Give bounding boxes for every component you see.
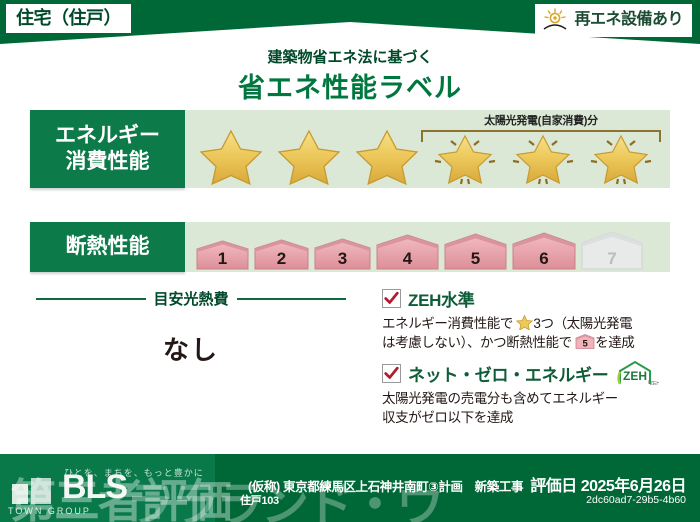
insulation-grade-4: 4 bbox=[375, 234, 440, 270]
claim-description: エネルギー消費性能で 3つ（太陽光発電 は考慮しない）、かつ断熱性能で 5 を達… bbox=[382, 314, 674, 352]
renewable-badge-label: 再エネ設備あり bbox=[574, 12, 683, 28]
insulation-grade-2: 2 bbox=[253, 239, 310, 270]
eval-date-label: 評価日 bbox=[530, 478, 577, 495]
grade-number: 1 bbox=[195, 250, 250, 267]
renewable-equipment-badge: 再エネ設備あり bbox=[535, 4, 692, 37]
insulation-grade-1: 1 bbox=[195, 240, 250, 270]
house-badge-icon-inline: 5 bbox=[575, 334, 595, 349]
zeh-logo-icon: ZEH 「ZEH」 bbox=[615, 360, 659, 386]
sun-solar-icon bbox=[542, 8, 568, 32]
claim-desc-mid: 3つ（太陽光発電 bbox=[533, 316, 632, 331]
pv-bracket-caption: 太陽光発電(自家消費)分 bbox=[421, 112, 661, 128]
footer-unit-number: 住戸103 bbox=[240, 492, 279, 508]
claim-header: ネット・ゼロ・エネルギー ZEH 「ZEH」 bbox=[382, 360, 674, 386]
check-icon bbox=[383, 290, 400, 307]
footer-evaluation-date: 評価日 2025年6月26日 bbox=[530, 472, 686, 496]
energy-key-line2: 消費性能 bbox=[55, 149, 160, 175]
insulation-grade-scale: 1 2 3 bbox=[195, 231, 644, 270]
brand-name: BLS bbox=[62, 470, 127, 504]
page-title: 省エネ性能ラベル bbox=[0, 66, 700, 105]
star-icon-pv bbox=[583, 127, 659, 185]
energy-performance-value: 太陽光発電(自家消費)分 bbox=[185, 110, 670, 188]
star-icon-filled bbox=[349, 127, 425, 185]
claim-desc-end: を達成 bbox=[595, 335, 634, 350]
insulation-performance-value: 1 2 3 bbox=[185, 222, 670, 272]
insulation-grade-3: 3 bbox=[313, 238, 372, 270]
claim-title: ネット・ゼロ・エネルギー bbox=[408, 361, 608, 386]
divider-right bbox=[237, 298, 347, 300]
brand-logo-icon bbox=[10, 476, 54, 506]
claim-description: 太陽光発電の売電分も含めてエネルギー 収支がゼロ以下を達成 bbox=[382, 389, 674, 427]
title-subtitle: 建築物省エネ法に基づく bbox=[0, 46, 700, 67]
brand-subtitle: TOWN GROUP bbox=[8, 506, 91, 516]
star-icon-pv bbox=[427, 127, 503, 185]
checkbox-checked[interactable] bbox=[382, 289, 401, 308]
claim-desc-line1: 太陽光発電の売電分も含めてエネルギー bbox=[382, 391, 618, 406]
grade-number: 2 bbox=[253, 250, 310, 267]
footer-bar: (仮称) 東京都練馬区上石神井南町③計画 新築工事 住戸103 評価日 2025… bbox=[0, 454, 700, 522]
grade-number: 3 bbox=[313, 250, 372, 267]
insulation-grade-5: 5 bbox=[443, 233, 508, 270]
utility-cost-label: 目安光熱費 bbox=[154, 288, 229, 309]
divider-left bbox=[36, 298, 146, 300]
footer-project-name: 東京都練馬区上石神井南町③計画 新築工事 bbox=[283, 476, 523, 495]
claim-zeh-level: ZEH水準 エネルギー消費性能で 3つ（太陽光発電 は考慮しない）、かつ断熱性能… bbox=[382, 286, 674, 352]
footer-document-id: 2dc60ad7-29b5-4b60 bbox=[586, 494, 686, 506]
utility-cost-value: なし bbox=[36, 330, 346, 367]
checkbox-checked[interactable] bbox=[382, 364, 401, 383]
check-icon bbox=[383, 365, 400, 382]
claim-desc-pre: エネルギー消費性能で bbox=[382, 316, 513, 331]
building-type-badge: 住宅（住戸） bbox=[6, 4, 131, 33]
star-rating bbox=[193, 127, 659, 185]
insulation-performance-row: 断熱性能 1 2 bbox=[30, 222, 670, 272]
grade-number: 5 bbox=[443, 250, 508, 267]
energy-performance-label: 住宅（住戸） 再エネ設備あり 建築物省エネ法に基づく 省エネ性能ラベル エネルギ… bbox=[0, 0, 700, 522]
utility-cost-heading: 目安光熱費 bbox=[36, 288, 346, 309]
claim-header: ZEH水準 bbox=[382, 286, 674, 311]
energy-performance-row: エネルギー 消費性能 太陽光発電(自家消費)分 bbox=[30, 110, 670, 188]
grade-number: 4 bbox=[375, 250, 440, 267]
star-icon-filled bbox=[271, 127, 347, 185]
svg-text:ZEH: ZEH bbox=[623, 369, 647, 383]
insulation-performance-key: 断熱性能 bbox=[30, 222, 185, 272]
eval-date-value: 2025年6月26日 bbox=[581, 478, 686, 495]
star-icon-pv bbox=[505, 127, 581, 185]
svg-text:「ZEH」: 「ZEH」 bbox=[645, 381, 659, 386]
insulation-grade-6: 6 bbox=[511, 232, 577, 270]
insulation-grade-7: 7 bbox=[580, 231, 644, 270]
claim-desc-mid2: は考慮しない）、かつ断熱性能で bbox=[382, 335, 572, 350]
claim-desc-line2: 収支がゼロ以下を達成 bbox=[382, 410, 513, 425]
energy-performance-key: エネルギー 消費性能 bbox=[30, 110, 185, 188]
claim-net-zero-energy: ネット・ゼロ・エネルギー ZEH 「ZEH」 太陽光発電の売電分も含めてエネルギ… bbox=[382, 360, 674, 427]
star-icon-filled bbox=[193, 127, 269, 185]
grade-number: 7 bbox=[580, 250, 644, 267]
energy-key-line1: エネルギー bbox=[55, 123, 160, 149]
brand-block: ひとを、まちを、もっと豊かに BLS TOWN GROUP bbox=[0, 454, 215, 522]
claim-title: ZEH水準 bbox=[408, 286, 475, 311]
grade-number: 6 bbox=[511, 250, 577, 267]
claims-section: ZEH水準 エネルギー消費性能で 3つ（太陽光発電 は考慮しない）、かつ断熱性能… bbox=[382, 286, 674, 436]
star-icon-inline bbox=[516, 315, 533, 330]
